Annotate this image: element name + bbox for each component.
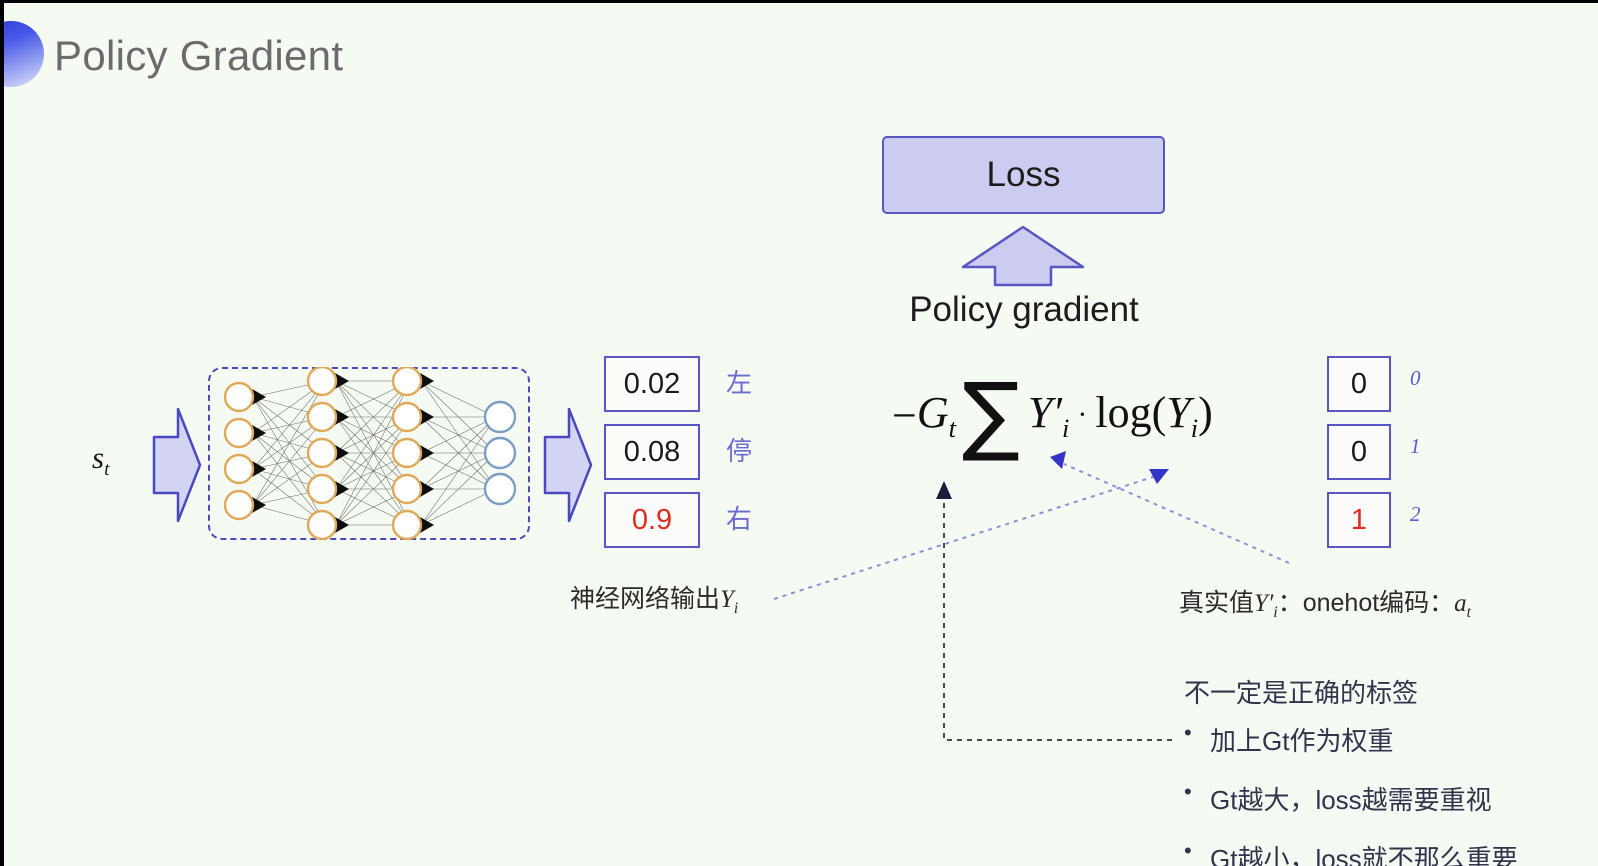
state-symbol: s	[92, 440, 104, 475]
slide-canvas: Policy Gradient Loss Policy gradient st	[0, 0, 1598, 866]
list-item: 加上Gt作为权重	[1184, 721, 1518, 758]
prob-box-right: 0.9	[604, 492, 700, 548]
list-item: Gt越大，loss越需要重视	[1184, 780, 1518, 817]
state-input-label: st	[92, 440, 109, 481]
formula-y-prime: Y′i	[1028, 387, 1069, 444]
formula-dot: ·	[1077, 398, 1087, 432]
output-block-arrow-icon	[543, 407, 593, 523]
neural-network-diagram	[208, 367, 530, 540]
page-title: Policy Gradient	[54, 32, 343, 80]
onehot-caption: 真实值Y′i：onehot编码：at	[1179, 583, 1471, 622]
prob-label-left: 左	[726, 363, 752, 400]
state-subscript: t	[104, 459, 109, 480]
notes-heading: 不一定是正确的标签	[1184, 673, 1418, 710]
prob-box-stop: 0.08	[604, 424, 700, 480]
onehot-index-0: 0	[1410, 366, 1421, 391]
prob-label-right: 右	[726, 499, 752, 536]
formula-gt: Gt	[917, 387, 956, 444]
formula-minus: −	[892, 390, 917, 441]
formula-log: log(Yi)	[1095, 387, 1212, 444]
input-block-arrow-icon	[152, 407, 202, 523]
formula-sigma: ∑	[962, 385, 1020, 445]
onehot-box-0: 0	[1327, 356, 1391, 412]
onehot-index-1: 1	[1410, 434, 1421, 459]
onehot-list: 0 0 1	[1327, 356, 1391, 560]
loss-box: Loss	[882, 136, 1165, 214]
policy-gradient-label: Policy gradient	[884, 290, 1164, 330]
loss-formula: −Gt∑Y′i·log(Yi)	[892, 385, 1213, 445]
title-bullet-icon	[0, 21, 44, 87]
output-probability-list: 0.02 0.08 0.9	[604, 356, 700, 560]
onehot-box-2: 1	[1327, 492, 1391, 548]
list-item: Gt越小，loss就不那么重要	[1184, 839, 1518, 866]
onehot-box-1: 0	[1327, 424, 1391, 480]
prob-label-stop: 停	[726, 431, 752, 468]
prob-box-left: 0.02	[604, 356, 700, 412]
network-output-caption: 神经网络输出Yi	[570, 579, 738, 618]
policy-gradient-up-arrow-icon	[959, 225, 1087, 287]
onehot-index-2: 2	[1410, 502, 1421, 527]
notes-bullet-list: 加上Gt作为权重 Gt越大，loss越需要重视 Gt越小，loss就不那么重要	[1184, 721, 1518, 866]
